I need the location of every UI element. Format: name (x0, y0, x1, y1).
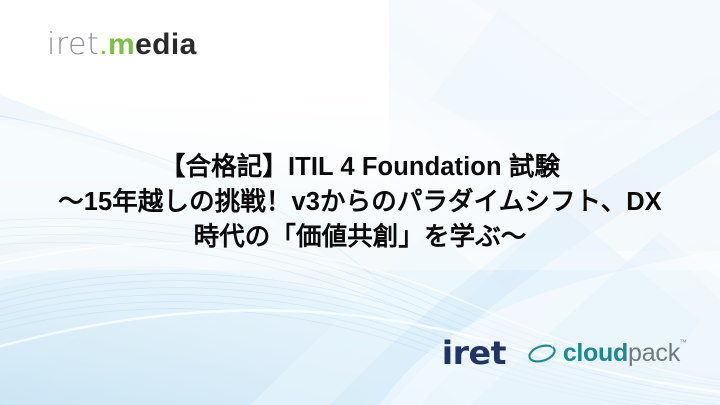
brand-part-edia: edia (135, 28, 197, 61)
article-title-line-3: 時代の「価値共創」を学ぶ〜 (18, 220, 702, 255)
article-title-line-1: 【合格記】ITIL 4 Foundation 試験 (18, 150, 702, 185)
footer-logo-group: iret cloudpack™ (443, 337, 680, 369)
brand-part-dot: . (99, 28, 108, 61)
cloudpack-trademark-icon: ™ (679, 339, 687, 347)
brand-logo-iret-media[interactable]: iret.media (47, 30, 197, 60)
cloudpack-wordmark: cloudpack™ (563, 341, 680, 366)
iret-logo[interactable]: iret (442, 337, 506, 369)
article-title-line-2: 〜15年越しの挑戦！v3からのパラダイムシフト、DX (18, 185, 702, 220)
article-title: 【合格記】ITIL 4 Foundation 試験 〜15年越しの挑戦！v3から… (0, 150, 720, 255)
cloudpack-word-cloud: cloud (563, 339, 628, 367)
cloudpack-word-pack: pack (628, 339, 680, 367)
brand-part-m: m (108, 28, 135, 61)
ogp-card: iret.media 【合格記】ITIL 4 Foundation 試験 〜15… (0, 0, 720, 405)
brand-part-iret: iret (47, 27, 99, 62)
cloudpack-swoosh-icon (527, 342, 557, 365)
cloudpack-logo[interactable]: cloudpack™ (527, 341, 680, 366)
